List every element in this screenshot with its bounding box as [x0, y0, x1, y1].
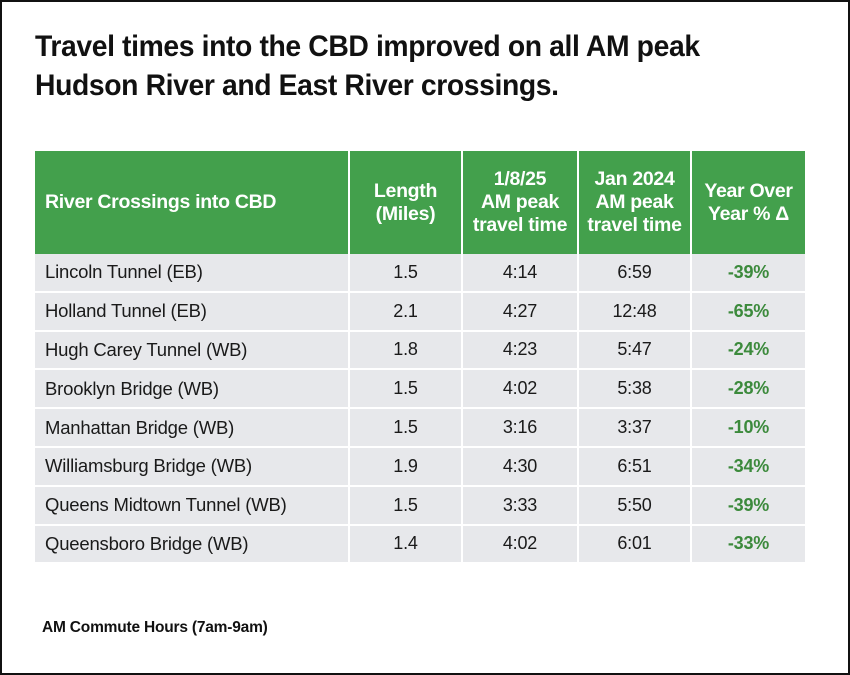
column-header-2025-line3: travel time: [473, 214, 567, 236]
column-header-2025-travel-time: 1/8/25 AM peak travel time: [462, 151, 578, 254]
cell-year-over-year: -65%: [691, 292, 805, 331]
cell-2024-travel-time: 5:50: [578, 486, 691, 525]
cell-2025-travel-time: 4:27: [462, 292, 578, 331]
cell-crossing: Queensboro Bridge (WB): [35, 525, 349, 563]
table-row: Manhattan Bridge (WB) 1.5 3:16 3:37 -10%: [35, 408, 805, 447]
column-header-yoy-line1: Year Over: [704, 180, 792, 202]
cell-year-over-year: -28%: [691, 369, 805, 408]
travel-times-table: River Crossings into CBD Length (Miles) …: [35, 151, 805, 562]
cell-2024-travel-time: 3:37: [578, 408, 691, 447]
cell-2024-travel-time: 5:38: [578, 369, 691, 408]
cell-crossing: Williamsburg Bridge (WB): [35, 447, 349, 486]
table-row: Williamsburg Bridge (WB) 1.9 4:30 6:51 -…: [35, 447, 805, 486]
column-header-2024-line1: Jan 2024: [595, 168, 675, 190]
cell-2025-travel-time: 3:16: [462, 408, 578, 447]
cell-length: 1.5: [349, 486, 462, 525]
cell-length: 1.8: [349, 331, 462, 370]
table-row: Queens Midtown Tunnel (WB) 1.5 3:33 5:50…: [35, 486, 805, 525]
cell-year-over-year: -39%: [691, 254, 805, 292]
table-row: Lincoln Tunnel (EB) 1.5 4:14 6:59 -39%: [35, 254, 805, 292]
table-row: Queensboro Bridge (WB) 1.4 4:02 6:01 -33…: [35, 525, 805, 563]
column-header-2024-travel-time: Jan 2024 AM peak travel time: [578, 151, 691, 254]
cell-2024-travel-time: 12:48: [578, 292, 691, 331]
column-header-length: Length (Miles): [349, 151, 462, 254]
cell-length: 1.4: [349, 525, 462, 563]
column-header-2024-line3: travel time: [587, 214, 681, 236]
cell-2025-travel-time: 4:30: [462, 447, 578, 486]
cell-2024-travel-time: 6:51: [578, 447, 691, 486]
travel-times-table-container: River Crossings into CBD Length (Miles) …: [35, 151, 805, 562]
column-header-2024-line2: AM peak: [595, 191, 673, 213]
column-header-2025-line2: AM peak: [481, 191, 559, 213]
cell-length: 1.5: [349, 254, 462, 292]
cell-length: 2.1: [349, 292, 462, 331]
table-row: Brooklyn Bridge (WB) 1.5 4:02 5:38 -28%: [35, 369, 805, 408]
cell-length: 1.9: [349, 447, 462, 486]
cell-year-over-year: -24%: [691, 331, 805, 370]
cell-length: 1.5: [349, 369, 462, 408]
slide-canvas: Travel times into the CBD improved on al…: [0, 0, 850, 675]
cell-year-over-year: -33%: [691, 525, 805, 563]
cell-length: 1.5: [349, 408, 462, 447]
cell-crossing: Hugh Carey Tunnel (WB): [35, 331, 349, 370]
cell-2025-travel-time: 4:02: [462, 525, 578, 563]
cell-crossing: Holland Tunnel (EB): [35, 292, 349, 331]
column-header-year-over-year: Year Over Year % Δ: [691, 151, 805, 254]
cell-2025-travel-time: 4:14: [462, 254, 578, 292]
column-header-crossing-label: River Crossings into CBD: [45, 191, 276, 213]
cell-2024-travel-time: 5:47: [578, 331, 691, 370]
column-header-2025-line1: 1/8/25: [494, 168, 546, 190]
column-header-crossing: River Crossings into CBD: [35, 151, 349, 254]
cell-2025-travel-time: 4:23: [462, 331, 578, 370]
cell-crossing: Queens Midtown Tunnel (WB): [35, 486, 349, 525]
cell-2024-travel-time: 6:01: [578, 525, 691, 563]
table-row: Holland Tunnel (EB) 2.1 4:27 12:48 -65%: [35, 292, 805, 331]
cell-2025-travel-time: 3:33: [462, 486, 578, 525]
column-header-yoy-line2: Year % Δ: [708, 203, 789, 225]
cell-year-over-year: -34%: [691, 447, 805, 486]
cell-crossing: Lincoln Tunnel (EB): [35, 254, 349, 292]
cell-2025-travel-time: 4:02: [462, 369, 578, 408]
table-row: Hugh Carey Tunnel (WB) 1.8 4:23 5:47 -24…: [35, 331, 805, 370]
footnote: AM Commute Hours (7am-9am): [42, 619, 268, 637]
table-body: Lincoln Tunnel (EB) 1.5 4:14 6:59 -39% H…: [35, 254, 805, 562]
cell-2024-travel-time: 6:59: [578, 254, 691, 292]
column-header-length-line2: (Miles): [376, 203, 436, 225]
cell-year-over-year: -10%: [691, 408, 805, 447]
page-title: Travel times into the CBD improved on al…: [35, 28, 765, 106]
column-header-length-line1: Length: [374, 180, 437, 202]
table-header-row: River Crossings into CBD Length (Miles) …: [35, 151, 805, 254]
cell-crossing: Manhattan Bridge (WB): [35, 408, 349, 447]
cell-crossing: Brooklyn Bridge (WB): [35, 369, 349, 408]
table-header: River Crossings into CBD Length (Miles) …: [35, 151, 805, 254]
cell-year-over-year: -39%: [691, 486, 805, 525]
